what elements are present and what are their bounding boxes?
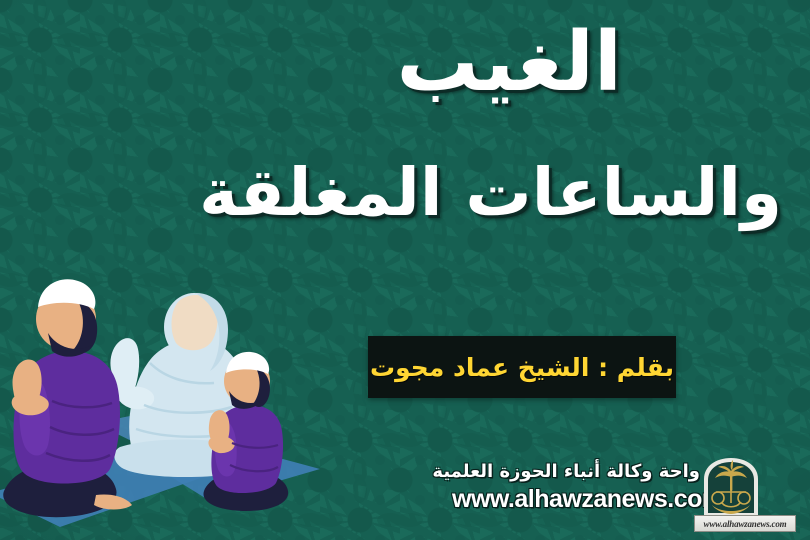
- footer-branding: واحة وكالة أنباء الحوزة العلمية www.alha…: [452, 462, 700, 514]
- poster-canvas: الغيب والساعات المغلقة بقلم : الشيخ عماد…: [0, 0, 810, 540]
- page-title-line-2: والساعات المغلقة: [199, 160, 782, 226]
- logo-url-strip[interactable]: www.alhawzanews.com: [694, 515, 796, 532]
- byline-box: بقلم : الشيخ عماد مجوت: [368, 336, 676, 398]
- title-line-2-container: والساعات المغلقة: [199, 160, 782, 226]
- page-title-line-1: الغيب: [397, 22, 622, 104]
- family-praying-illustration: [0, 205, 340, 540]
- title-line-1-container: الغيب: [397, 22, 622, 104]
- footer-website-url[interactable]: www.alhawzanews.com: [452, 485, 700, 514]
- logo-url-text: www.alhawzanews.com: [704, 519, 787, 529]
- figure-man-purple: [3, 279, 132, 517]
- byline-author-text: بقلم : الشيخ عماد مجوت: [370, 353, 674, 382]
- footer-agency-name: واحة وكالة أنباء الحوزة العلمية: [452, 462, 700, 483]
- alhawza-news-logo[interactable]: [700, 455, 762, 521]
